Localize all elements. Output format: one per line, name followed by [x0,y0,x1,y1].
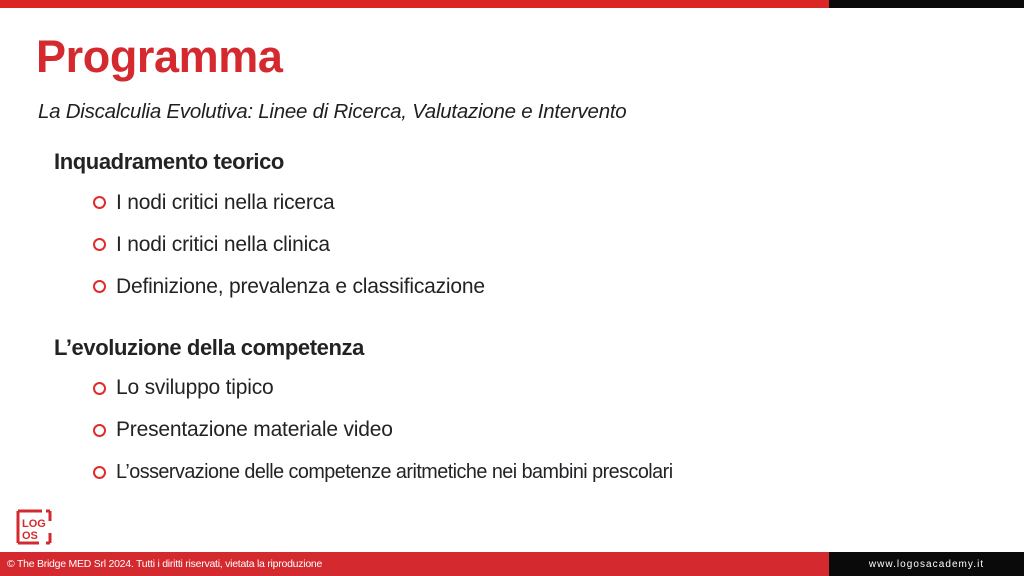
circle-bullet-icon [93,280,106,293]
list-item-label: Lo sviluppo tipico [116,376,274,399]
footer-copyright-segment: © The Bridge MED Srl 2024. Tutti i dirit… [0,552,829,576]
list-item: Definizione, prevalenza e classificazion… [93,266,1024,308]
footer-website-segment: www.logosacademy.it [829,552,1024,576]
agenda-section-heading: L’evoluzione della competenza [54,334,1024,362]
agenda-section-heading: Inquadramento teorico [54,148,1024,176]
list-item: Presentazione materiale video [93,409,1024,451]
agenda-bullet-list: I nodi critici nella ricerca I nodi crit… [0,182,1024,308]
slide-body: Programma La Discalculia Evolutiva: Line… [0,8,1024,552]
list-item-label: I nodi critici nella clinica [116,233,330,256]
list-item-label: Presentazione materiale video [116,418,393,441]
agenda-section: L’evoluzione della competenza Lo svilupp… [0,334,1024,494]
circle-bullet-icon [93,196,106,209]
agenda-bullet-list: Lo sviluppo tipico Presentazione materia… [0,367,1024,493]
footer-bar: © The Bridge MED Srl 2024. Tutti i dirit… [0,552,1024,576]
list-item: Lo sviluppo tipico [93,367,1024,409]
footer-copyright-text: © The Bridge MED Srl 2024. Tutti i dirit… [0,558,322,570]
top-accent-bar-black-segment [829,0,1024,8]
agenda-section: Inquadramento teorico I nodi critici nel… [0,148,1024,308]
list-item: I nodi critici nella clinica [93,224,1024,266]
logo-line-1: LOG [22,518,46,530]
list-item: L’osservazione delle competenze aritmeti… [93,451,1024,493]
slide-title: Programma [36,34,283,79]
logos-logo: LOG OS [15,508,53,546]
agenda-content: Inquadramento teorico I nodi critici nel… [0,148,1024,493]
top-accent-bar-red-segment [0,0,829,8]
footer-website-text: www.logosacademy.it [869,559,984,570]
list-item-label: Definizione, prevalenza e classificazion… [116,275,485,298]
slide-subtitle: La Discalculia Evolutiva: Linee di Ricer… [38,100,626,124]
logo-line-2: OS [22,530,38,542]
list-item-label: L’osservazione delle competenze aritmeti… [116,461,673,484]
circle-bullet-icon [93,424,106,437]
circle-bullet-icon [93,466,106,479]
list-item-label: I nodi critici nella ricerca [116,191,334,214]
circle-bullet-icon [93,382,106,395]
list-item: I nodi critici nella ricerca [93,182,1024,224]
circle-bullet-icon [93,238,106,251]
top-accent-bar [0,0,1024,8]
